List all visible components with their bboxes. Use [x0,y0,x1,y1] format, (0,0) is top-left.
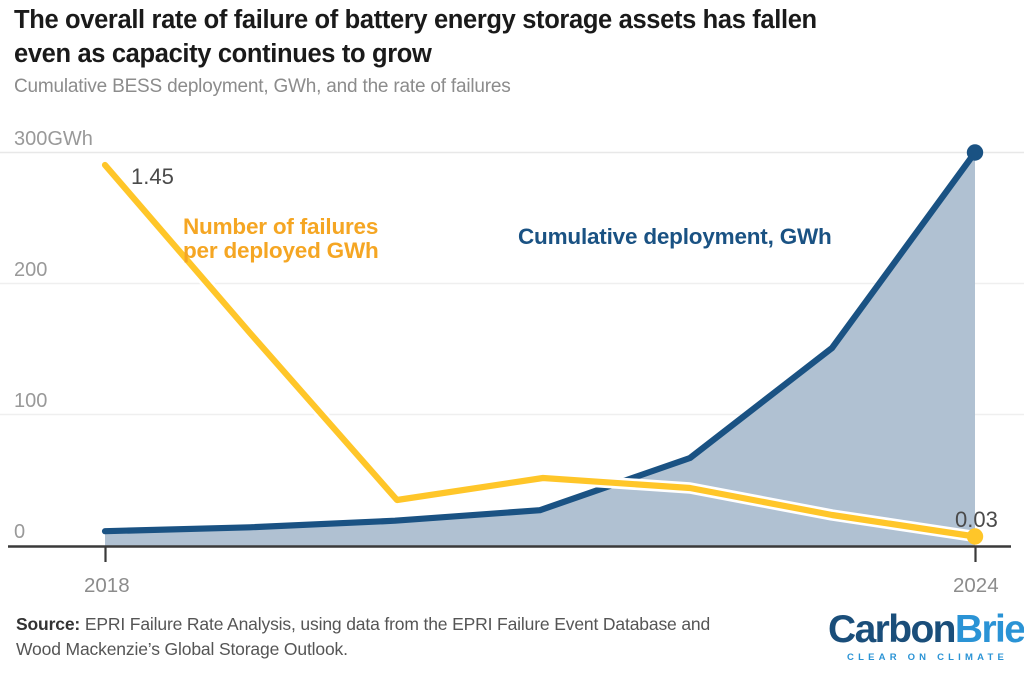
y-tick-0: 0 [14,521,25,543]
logo-tagline: CLEAR ON CLIMATE [828,653,1010,663]
x-axis [8,547,1011,563]
logo-word-carbon: Carbon [828,608,955,651]
y-tick-200: 200 [14,259,47,281]
chart-title: The overall rate of failure of battery e… [14,4,974,71]
source-body: EPRI Failure Rate Analysis, using data f… [16,614,710,659]
chart-svg: 300GWh 200 100 0 1.45 0.03 Number of fai… [0,0,1024,677]
deployment-line [105,153,975,532]
plot-area: 300GWh 200 100 0 1.45 0.03 Number of fai… [0,0,1024,677]
carbonbrief-logo[interactable]: CarbonBrief CLEAR ON CLIMATE [828,610,1010,663]
y-tick-300: 300GWh [14,128,93,150]
failure-series-annotation-line2: per deployed GWh [183,238,379,263]
failure-rate-line [105,165,975,537]
chart-subtitle: Cumulative BESS deployment, GWh, and the… [14,76,974,99]
y-axis-labels: 300GWh 200 100 0 [14,128,93,543]
failure-end-value-label: 0.03 [955,507,998,532]
gridlines [0,153,1024,415]
chart-header: The overall rate of failure of battery e… [14,4,974,99]
deployment-series-annotation: Cumulative deployment, GWh [518,224,832,249]
failure-series-annotation-line1: Number of failures [183,214,378,239]
deployment-area-fill [105,153,975,546]
failure-series-annotation: Number of failures per deployed GWh [183,214,379,263]
failure-rate-endpoint-marker [967,528,983,544]
source-note: Source: EPRI Failure Rate Analysis, usin… [16,612,716,663]
y-tick-100: 100 [14,390,47,412]
x-tick-label-2024: 2024 [953,574,999,597]
failure-start-value-label: 1.45 [131,164,174,189]
failure-rate-line-halo [105,165,975,537]
source-label: Source: [16,614,80,634]
chart-footer: Source: EPRI Failure Rate Analysis, usin… [16,612,716,663]
x-tick-label-2018: 2018 [84,574,130,597]
deployment-endpoint-marker [967,144,983,160]
logo-word-brief: Brief [955,608,1024,651]
logo-wordmark: CarbonBrief [828,610,1010,649]
chart-page: The overall rate of failure of battery e… [0,0,1024,677]
